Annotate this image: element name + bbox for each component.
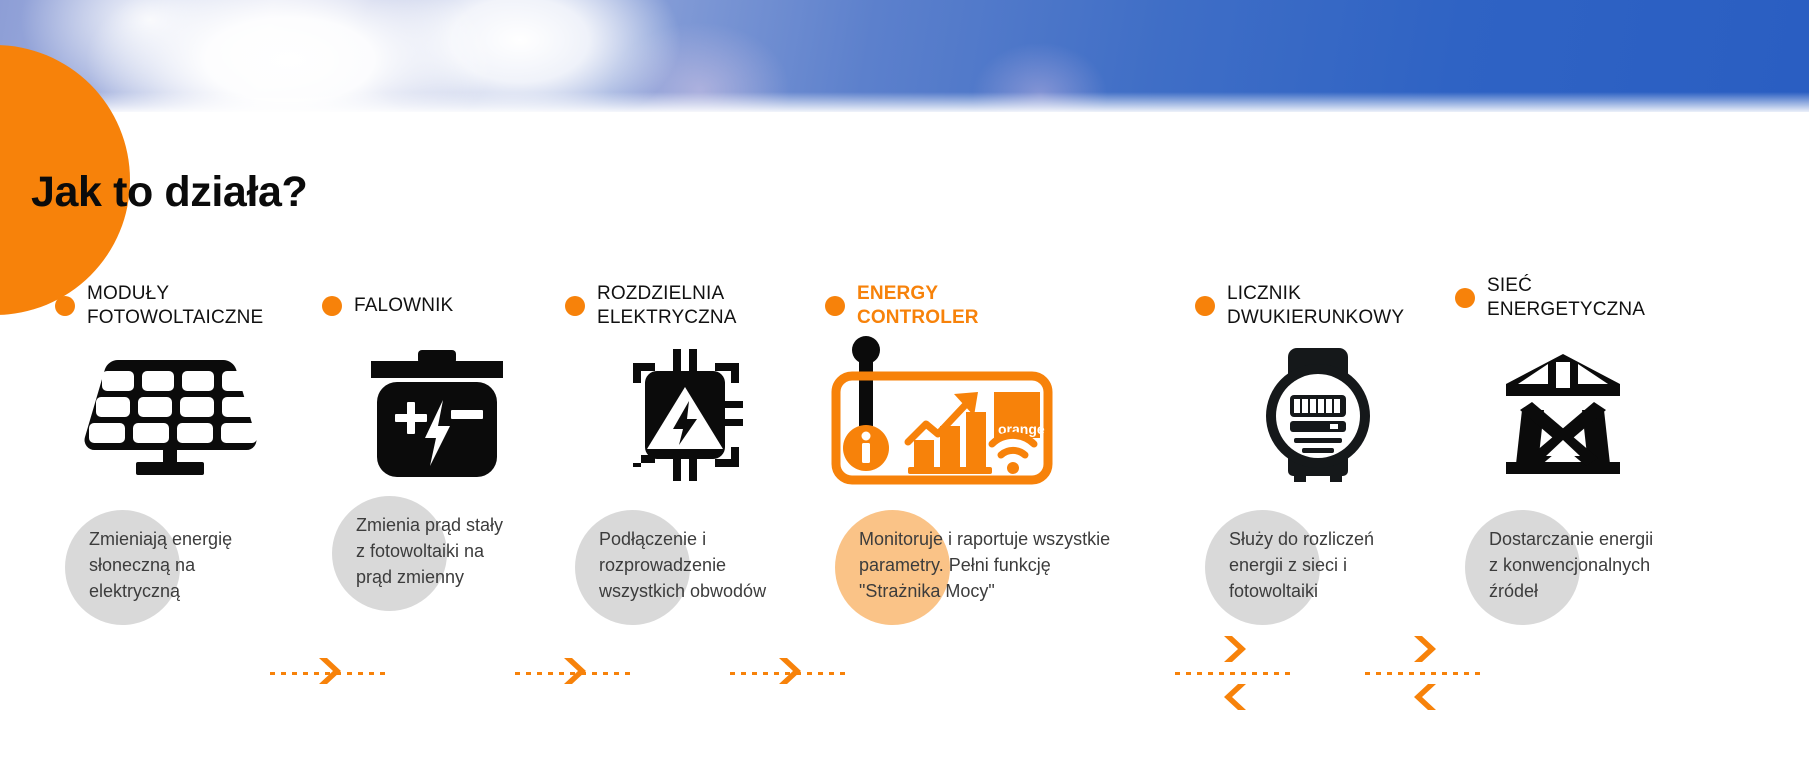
step-bullet-icon — [825, 296, 845, 316]
step-title: ENERGY CONTROLER — [857, 282, 979, 331]
chevron-right-icon — [1412, 634, 1438, 664]
step-description: Dostarczanie energii z konwencjonalnych … — [1489, 526, 1739, 604]
sky-fade — [0, 92, 1809, 114]
step-description: Monitoruje i raportuje wszystkie paramet… — [859, 526, 1149, 604]
bidirectional-meter-icon — [1243, 347, 1393, 482]
step-header: LICZNIK DWUKIERUNKOWY — [1195, 282, 1404, 331]
step-bullet-icon — [1455, 288, 1475, 308]
inverter-battery-icon — [322, 347, 552, 482]
step-description-group: Monitoruje i raportuje wszystkie paramet… — [825, 504, 1135, 684]
step-header: SIEĆ ENERGETYCZNA — [1455, 274, 1645, 323]
step-header: ENERGY CONTROLER — [825, 282, 979, 331]
step-title: ROZDZIELNIA ELEKTRYCZNA — [597, 282, 737, 331]
step-bullet-icon — [55, 296, 75, 316]
step-title: FALOWNIK — [354, 294, 453, 318]
step-siec-energetyczna[interactable]: SIEĆ ENERGETYCZNA — [1455, 282, 1710, 702]
step-header: MODUŁY FOTOWOLTAICZNE — [55, 282, 263, 331]
step-bullet-icon — [565, 296, 585, 316]
power-grid-tower-icon — [1483, 347, 1643, 482]
step-energy-controler[interactable]: ENERGY CONTROLER — [825, 282, 1125, 702]
step-title: MODUŁY FOTOWOLTAICZNE — [87, 282, 263, 331]
process-flow: MODUŁY FOTOWOLTAICZNE — [0, 282, 1809, 702]
step-description-group: Dostarczanie energii z konwencjonalnych … — [1455, 504, 1725, 684]
step-header: ROZDZIELNIA ELEKTRYCZNA — [565, 282, 737, 331]
step-header: FALOWNIK — [322, 294, 453, 318]
energy-controller-icon: orange — [817, 337, 1067, 487]
step-bullet-icon — [322, 296, 342, 316]
step-title: LICZNIK DWUKIERUNKOWY — [1227, 282, 1404, 331]
page-title: Jak to działa? — [31, 168, 307, 217]
step-title: SIEĆ ENERGETYCZNA — [1487, 274, 1645, 323]
electrical-switchboard-icon — [571, 347, 801, 482]
step-bullet-icon — [1195, 296, 1215, 316]
chevron-left-icon — [1412, 682, 1438, 712]
chevron-right-icon — [777, 656, 803, 686]
solar-panel-icon — [55, 347, 285, 482]
